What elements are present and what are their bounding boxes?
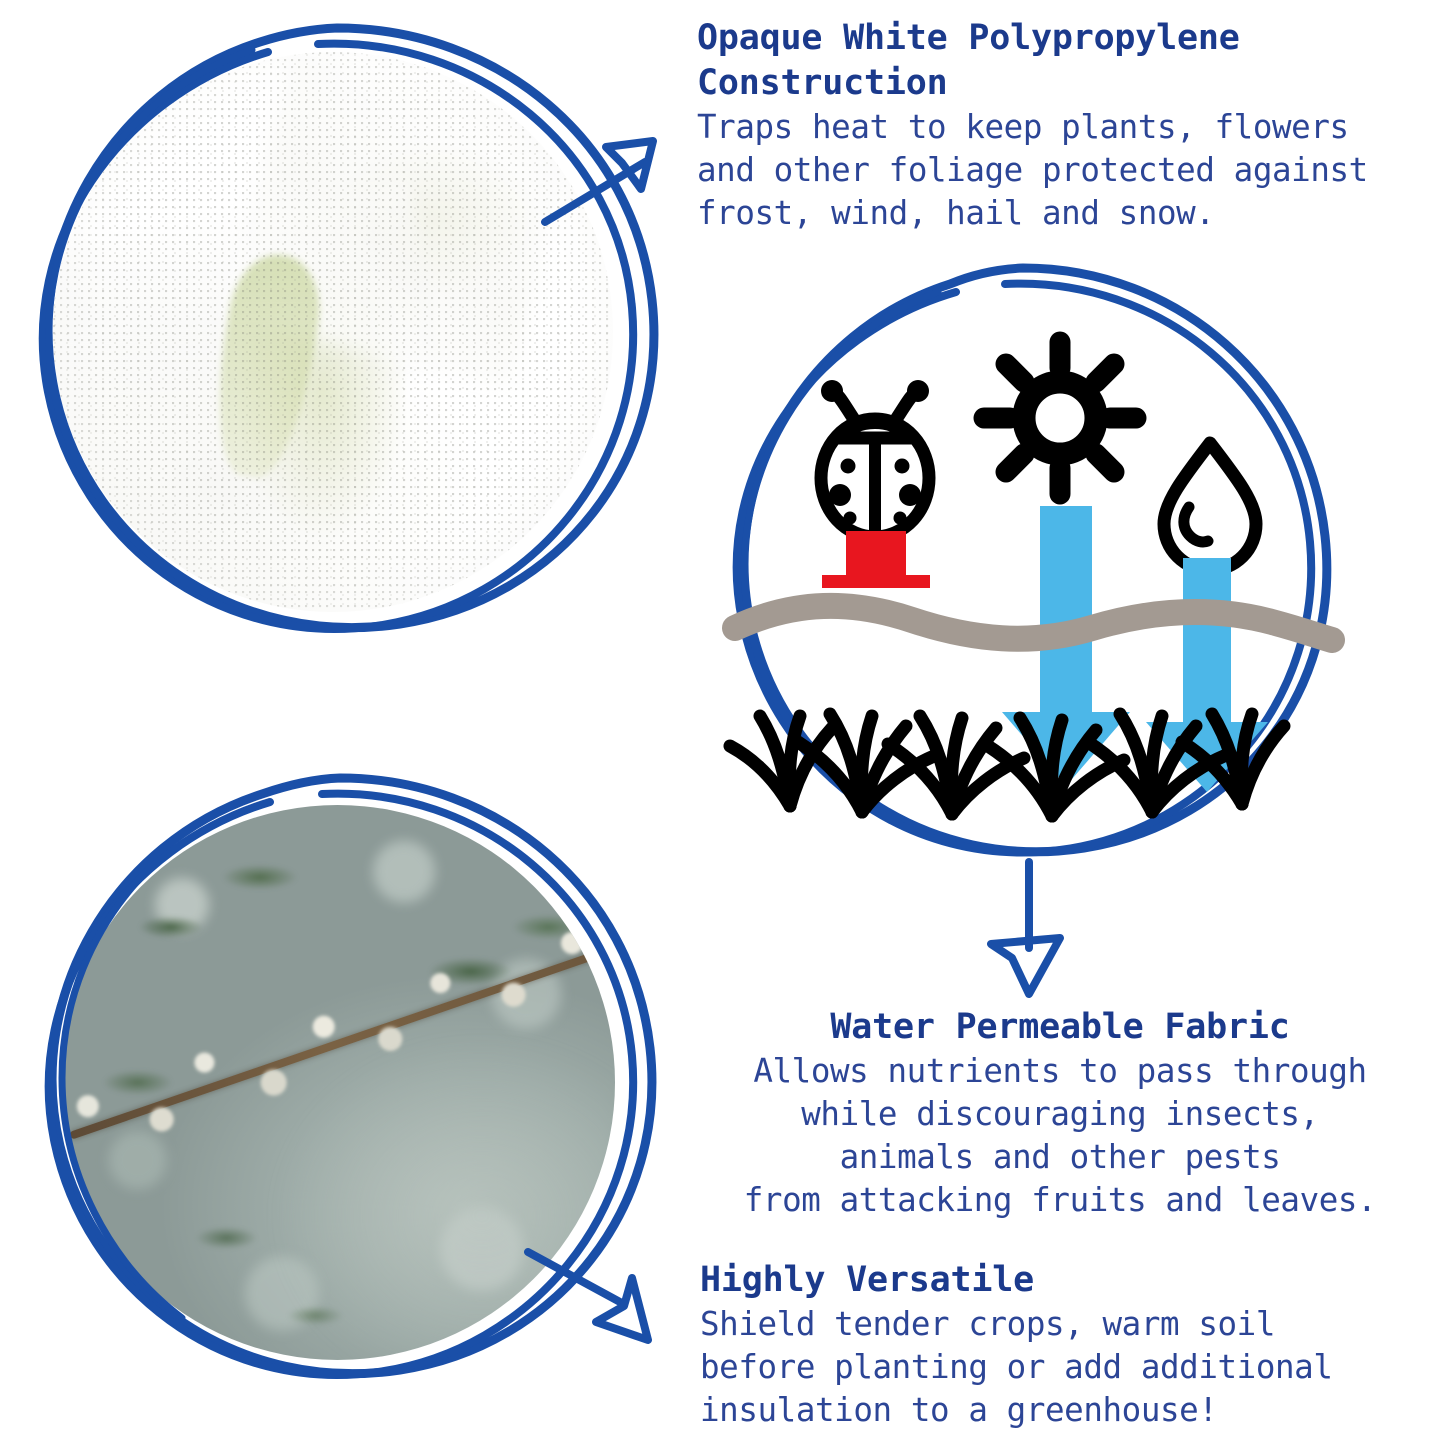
sun-icon xyxy=(984,342,1136,494)
sketch-circle-fabric-photo xyxy=(43,28,654,629)
feature-body-line: Allows nutrients to pass through xyxy=(680,1050,1440,1093)
feature-title-line: Water Permeable Fabric xyxy=(680,1005,1440,1050)
feature-title-line: Opaque White Polypropylene xyxy=(697,16,1437,61)
feature-body-line: and other foliage protected against xyxy=(697,149,1437,192)
feature-body-line: animals and other pests xyxy=(680,1136,1440,1179)
feature-body-line: while discouraging insects, xyxy=(680,1093,1440,1136)
feature-title: Water Permeable Fabric xyxy=(680,1005,1440,1050)
feature-body-line: Traps heat to keep plants, flowers xyxy=(697,106,1437,149)
feature-body: Traps heat to keep plants, flowers and o… xyxy=(697,106,1437,236)
infographic-page: Opaque White Polypropylene Construction … xyxy=(0,0,1445,1445)
feature-body-line: insulation to a greenhouse! xyxy=(700,1389,1440,1432)
arrow-diagram-to-permeable-text xyxy=(991,862,1060,994)
feature-block-highly-versatile: Highly Versatile Shield tender crops, wa… xyxy=(700,1258,1440,1432)
feature-block-water-permeable-fabric: Water Permeable Fabric Allows nutrients … xyxy=(680,1005,1440,1223)
feature-body-line: from attacking fruits and leaves. xyxy=(680,1179,1440,1222)
feature-body-line: before planting or add additional xyxy=(700,1346,1440,1389)
feature-title: Opaque White Polypropylene Construction xyxy=(697,16,1437,106)
feature-body-line: frost, wind, hail and snow. xyxy=(697,192,1437,235)
ladybug-icon xyxy=(821,380,929,537)
feature-title-line: Highly Versatile xyxy=(700,1258,1440,1303)
feature-block-opaque-white-polypropylene: Opaque White Polypropylene Construction … xyxy=(697,16,1437,235)
water-drop-icon xyxy=(1164,443,1256,570)
water-permeable-diagram xyxy=(730,342,1332,816)
feature-body-line: Shield tender crops, warm soil xyxy=(700,1303,1440,1346)
feature-title: Highly Versatile xyxy=(700,1258,1440,1303)
blocked-bar-icon xyxy=(822,531,930,588)
feature-body: Shield tender crops, warm soil before pl… xyxy=(700,1303,1440,1433)
feature-title-line: Construction xyxy=(697,61,1437,106)
fabric-layer-icon xyxy=(735,606,1332,640)
feature-body: Allows nutrients to pass through while d… xyxy=(680,1050,1440,1223)
sketch-circle-frost-photo xyxy=(49,778,652,1375)
